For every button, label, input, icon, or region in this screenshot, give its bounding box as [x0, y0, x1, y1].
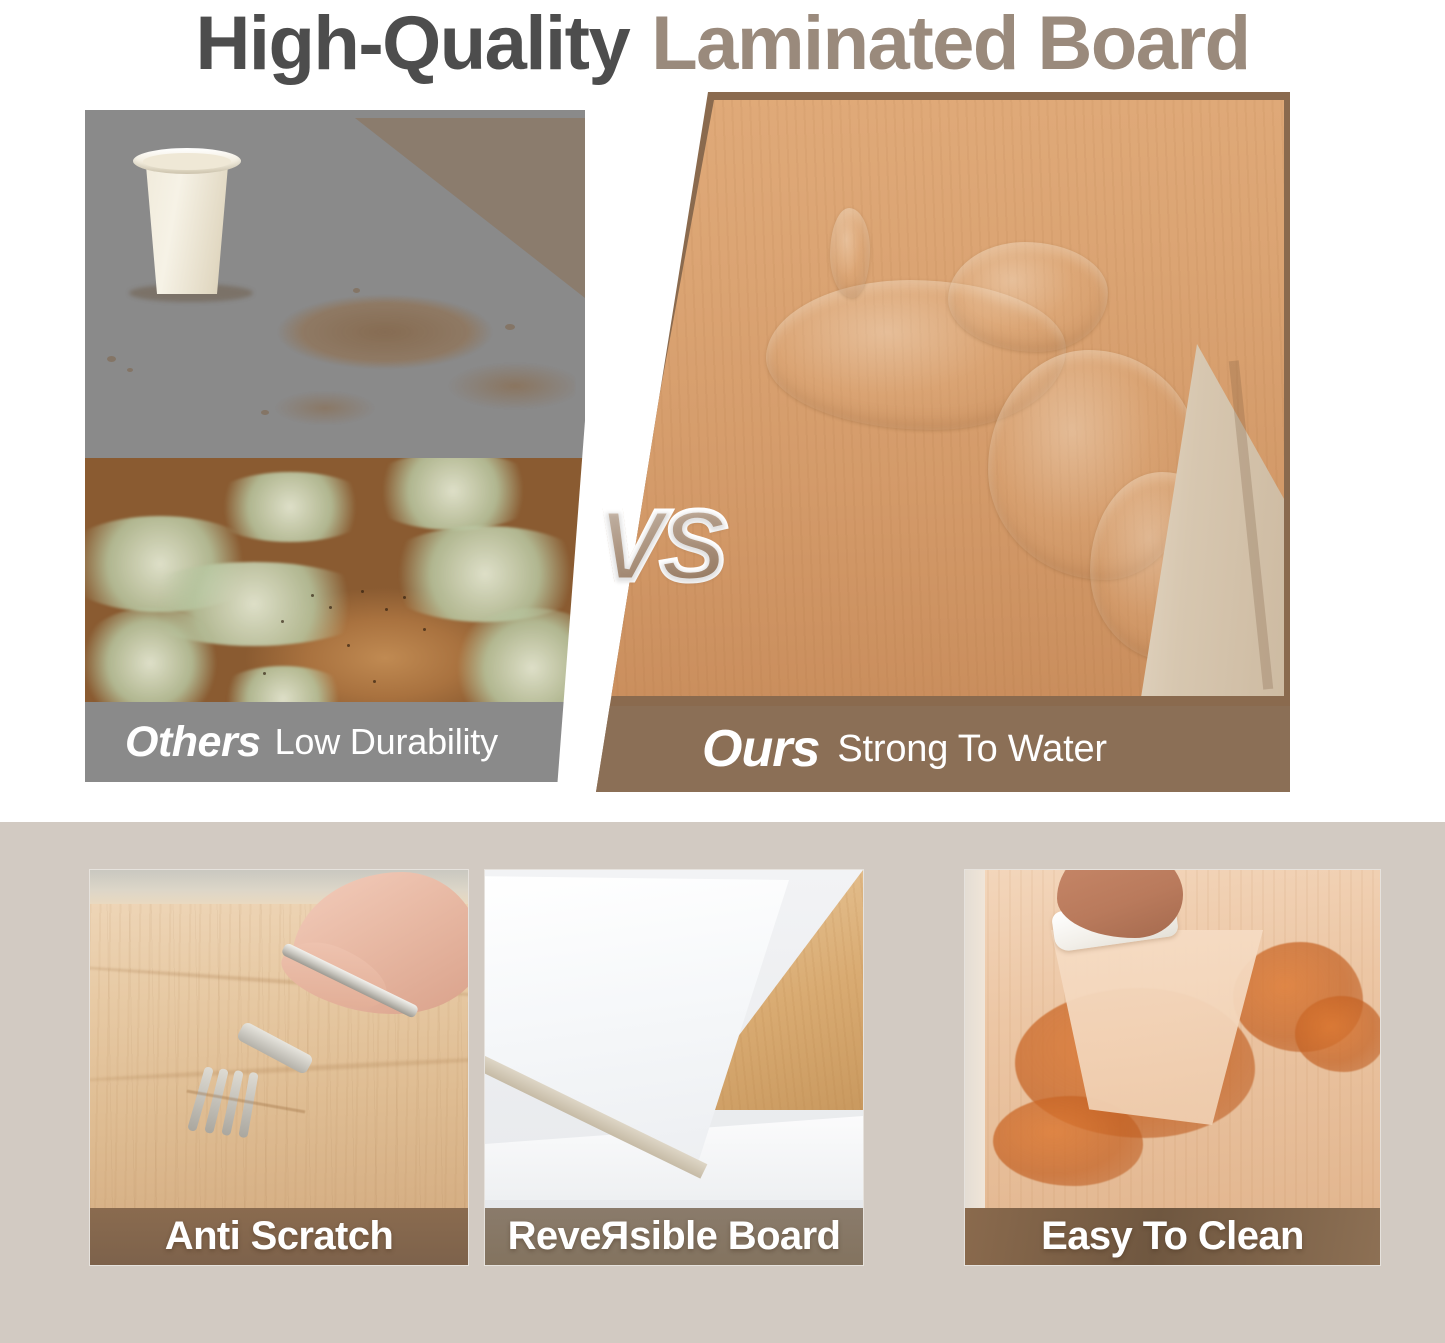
mirrored-r-glyph: R	[601, 1214, 629, 1259]
feature-label-prefix: Reve	[508, 1214, 601, 1258]
page-title: High-Quality Laminated Board	[0, 0, 1445, 88]
mold-spore	[361, 590, 364, 593]
others-subtitle: Low Durability	[275, 721, 498, 763]
feature-label-text: Anti Scratch	[165, 1214, 393, 1259]
paper-cup-interior	[143, 153, 231, 170]
others-title: Others	[125, 718, 261, 767]
ours-label-bar: Ours Strong To Water	[590, 706, 1290, 792]
water-bead	[948, 242, 1108, 352]
feature-label-bar: ReveRsible Board	[485, 1208, 863, 1265]
droplet	[261, 410, 269, 415]
feature-label-bar: Anti Scratch	[90, 1208, 468, 1265]
vs-badge: VS	[575, 490, 745, 602]
feature-label-bar: Easy To Clean	[965, 1208, 1380, 1265]
water-streak	[830, 208, 870, 298]
feature-card-reversible-board: ReveRsible Board	[485, 870, 863, 1265]
background-strip	[965, 870, 985, 1212]
mold-spore	[263, 672, 266, 675]
mold-patch	[375, 526, 585, 622]
feature-card-easy-to-clean: Easy To Clean	[965, 870, 1380, 1265]
mold-patch	[205, 472, 375, 542]
page-title-part-2: Laminated Board	[651, 6, 1249, 82]
feature-card-anti-scratch: Anti Scratch	[90, 870, 468, 1265]
mold-spore	[281, 620, 284, 623]
others-spill-photo	[85, 118, 585, 448]
mold-spore	[347, 644, 350, 647]
anti-scratch-photo	[90, 870, 468, 1212]
water-spill	[265, 286, 575, 446]
droplet	[353, 288, 360, 293]
feature-label-text: ReveRsible Board	[508, 1214, 841, 1259]
feature-label-suffix: sible Board	[629, 1214, 840, 1258]
mold-patch	[363, 458, 543, 530]
others-panel: Others Low Durability	[85, 110, 585, 782]
others-mold-photo	[85, 458, 585, 726]
ours-subtitle: Strong To Water	[837, 728, 1106, 771]
page-title-part-1: High-Quality	[195, 6, 629, 82]
mold-spore	[373, 680, 376, 683]
mold-spore	[385, 608, 388, 611]
droplet	[127, 368, 133, 372]
features-section: Anti Scratch ReveRsible Board	[0, 822, 1445, 1343]
comparison-section: Others Low Durability Ours Strong To Wat…	[0, 92, 1445, 802]
others-label-bar: Others Low Durability	[85, 702, 585, 782]
background-wall	[355, 118, 585, 298]
reversible-board-photo	[485, 870, 863, 1212]
droplet	[107, 356, 116, 362]
mold-spore	[311, 594, 314, 597]
paper-cup	[137, 154, 237, 294]
mold-spore	[329, 606, 332, 609]
ours-title: Ours	[702, 719, 819, 779]
mold-spore	[423, 628, 426, 631]
mold-spore	[403, 596, 406, 599]
feature-label-text: Easy To Clean	[1041, 1214, 1304, 1259]
easy-to-clean-photo	[965, 870, 1380, 1212]
ours-panel: Ours Strong To Water	[590, 92, 1290, 792]
droplet	[505, 324, 515, 330]
